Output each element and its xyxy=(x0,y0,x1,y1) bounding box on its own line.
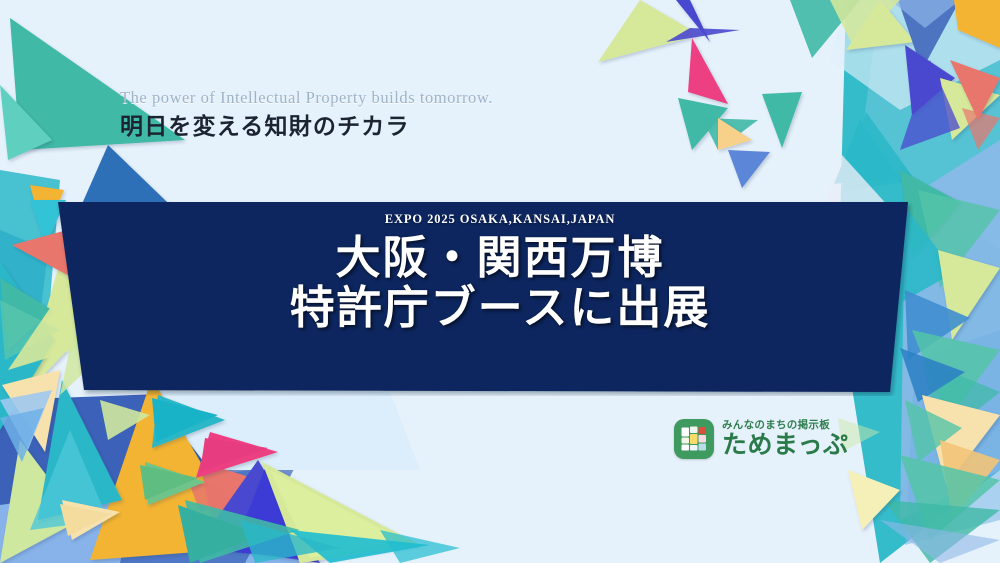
navy-banner-text: EXPO 2025 OSAKA,KANSAI,JAPAN 大阪・関西万博 特許庁… xyxy=(0,196,1000,396)
tamemap-bulletin-board-icon xyxy=(674,419,714,459)
tagline-japanese: 明日を変える知財のチカラ xyxy=(120,113,680,143)
navy-banner: EXPO 2025 OSAKA,KANSAI,JAPAN 大阪・関西万博 特許庁… xyxy=(0,196,1000,396)
tamemap-logo-text: みんなのまちの掲示板 ためまっぷ xyxy=(722,420,849,459)
expo-eyebrow: EXPO 2025 OSAKA,KANSAI,JAPAN xyxy=(385,212,616,227)
tagline-block: The power of Intellectual Property build… xyxy=(120,88,680,143)
headline-line-1: 大阪・関西万博 xyxy=(335,233,664,283)
banner-canvas: The power of Intellectual Property build… xyxy=(0,0,1000,563)
headline-line-2: 特許庁ブースに出展 xyxy=(290,283,711,333)
tamemap-logo[interactable]: みんなのまちの掲示板 ためまっぷ xyxy=(674,419,849,459)
tagline-english: The power of Intellectual Property build… xyxy=(120,88,680,109)
tamemap-brand-name: ためまっぷ xyxy=(722,432,849,458)
